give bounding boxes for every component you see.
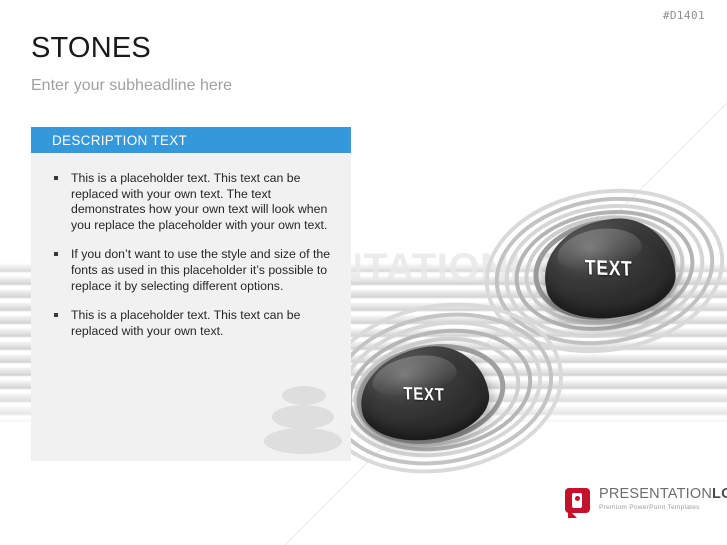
logo-tagline: Premium PowerPoint Templates [599, 505, 727, 512]
logo-wordmark: PRESENTATIONLOAD® [599, 487, 727, 502]
stacked-stones-bottom [264, 428, 342, 454]
slide-canvas: PRESENTATIONLOAD TEXT TEXT [0, 0, 727, 545]
description-bullet-list: This is a placeholder text. This text ca… [52, 171, 331, 339]
speech-bubble-p-icon [565, 488, 590, 513]
slide-id-code: #D1401 [663, 9, 705, 22]
description-panel-body: This is a placeholder text. This text ca… [31, 153, 351, 339]
list-item-text: This is a placeholder text. This text ca… [71, 171, 327, 232]
stacked-stones-middle [272, 405, 334, 429]
logo-text-block: PRESENTATIONLOAD® Premium PowerPoint Tem… [599, 487, 727, 511]
bullet-square-icon [54, 313, 58, 317]
stone-label-upper: TEXT [585, 256, 633, 281]
logo-name-light: PRESENTATION [599, 486, 712, 502]
list-item[interactable]: This is a placeholder text. This text ca… [52, 171, 331, 233]
speech-bubble-tail [568, 509, 577, 518]
list-item-text: If you don’t want to use the style and s… [71, 247, 330, 292]
list-item[interactable]: This is a placeholder text. This text ca… [52, 308, 331, 339]
bullet-square-icon [54, 176, 58, 180]
stacked-stones-icon [264, 386, 342, 454]
bullet-square-icon [54, 252, 58, 256]
description-panel-header: DESCRIPTION TEXT [31, 127, 351, 153]
page-title: STONES [31, 32, 151, 65]
stacked-stones-top [282, 386, 326, 405]
list-item-text: This is a placeholder text. This text ca… [71, 308, 300, 338]
logo-name-bold: LOAD [712, 486, 727, 502]
page-subtitle: Enter your subheadline here [31, 77, 232, 95]
presentationload-logo[interactable]: PRESENTATIONLOAD® Premium PowerPoint Tem… [565, 487, 713, 519]
list-item[interactable]: If you don’t want to use the style and s… [52, 247, 331, 294]
stone-graphic-lower-left: TEXT [318, 300, 568, 476]
stone-label-lower: TEXT [403, 383, 445, 405]
